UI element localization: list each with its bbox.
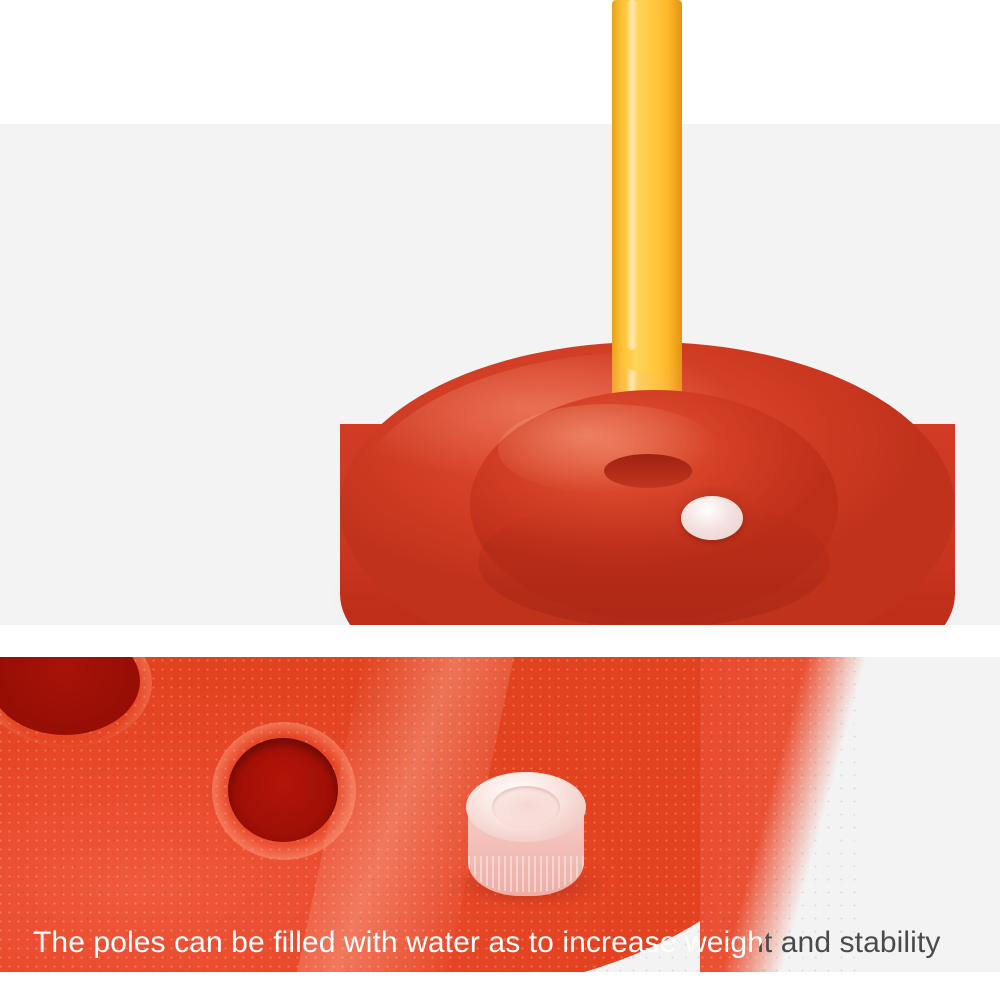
- dome-shading: [478, 496, 830, 625]
- dome-highlight: [498, 404, 718, 494]
- translucent-cap-inner-ring: [492, 786, 560, 828]
- yellow-pole-upper: [612, 0, 682, 371]
- hero-stability-photo: [0, 124, 1000, 625]
- pole-socket-hole: [228, 738, 338, 842]
- white-fill-cap: [681, 496, 743, 540]
- product-feature-image: EXQUISITE STABILITY DESIGN The poles can…: [0, 0, 1000, 1000]
- pole-socket: [604, 454, 692, 488]
- header-band: [0, 0, 1000, 124]
- pole-gloss-highlight-upper: [626, 0, 638, 350]
- footer-band: [0, 972, 1000, 1000]
- panel-divider: [0, 625, 1000, 657]
